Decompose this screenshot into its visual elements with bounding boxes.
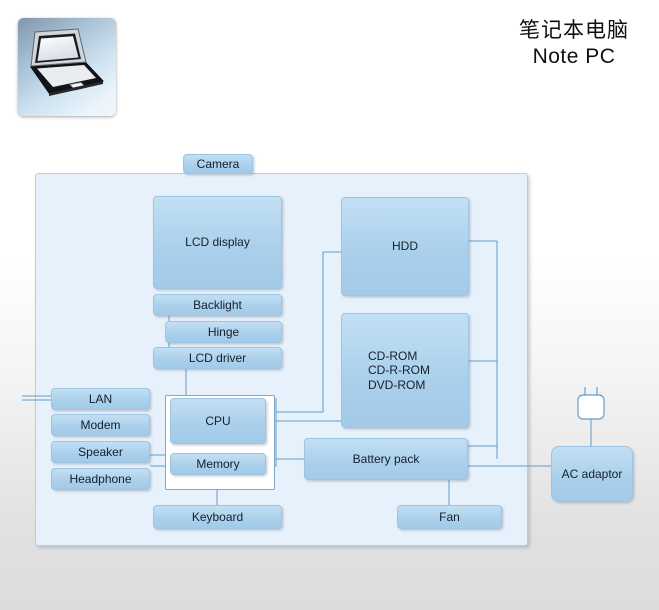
node-lcd-display[interactable]: LCD display — [153, 196, 282, 289]
node-cpu[interactable]: CPU — [170, 398, 266, 444]
node-hinge[interactable]: Hinge — [165, 321, 282, 343]
node-memory[interactable]: Memory — [170, 453, 266, 475]
node-keyboard[interactable]: Keyboard — [153, 505, 282, 529]
node-backlight[interactable]: Backlight — [153, 294, 282, 316]
node-headphone[interactable]: Headphone — [51, 468, 150, 490]
node-lcd-driver[interactable]: LCD driver — [153, 347, 282, 369]
node-battery-pack[interactable]: Battery pack — [304, 438, 468, 480]
node-modem[interactable]: Modem — [51, 414, 150, 436]
node-ac-adaptor[interactable]: AC adaptor — [551, 446, 633, 502]
node-optical[interactable]: CD-ROM CD-R-ROM DVD-ROM — [341, 313, 469, 428]
node-lan[interactable]: LAN — [51, 388, 150, 410]
node-fan[interactable]: Fan — [397, 505, 502, 529]
node-speaker[interactable]: Speaker — [51, 441, 150, 463]
note-pc-block-diagram: CameraLCD displayBacklightHingeLCD drive… — [0, 0, 659, 610]
connector-lines — [0, 0, 659, 610]
node-hdd[interactable]: HDD — [341, 197, 469, 296]
power-plug-icon — [578, 387, 604, 419]
node-camera[interactable]: Camera — [183, 154, 253, 174]
